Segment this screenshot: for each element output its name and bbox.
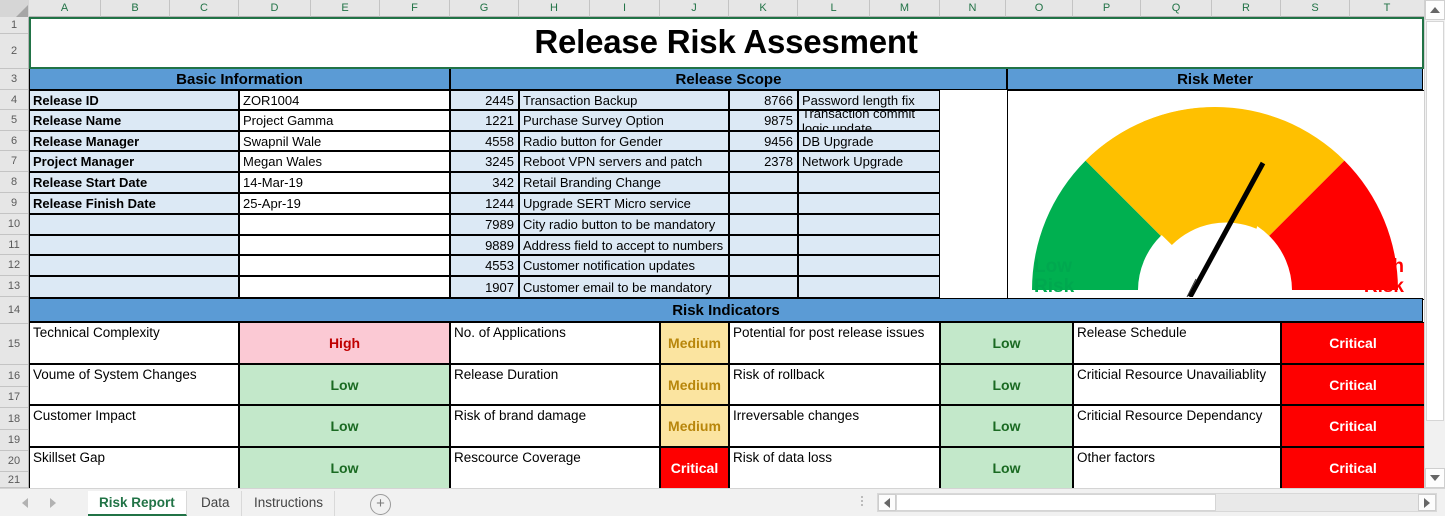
column-header-f[interactable]: F: [380, 0, 450, 17]
scope-left-desc-7[interactable]: Address field to accept to numbers: [519, 235, 729, 255]
caret-left-icon: [22, 498, 28, 508]
column-header-m[interactable]: M: [870, 0, 940, 17]
scope-left-id-3[interactable]: 3245: [450, 151, 519, 172]
section-header-risk-indicators: Risk Indicators: [29, 298, 1423, 322]
scope-right-id-6[interactable]: [729, 214, 798, 235]
scope-left-desc-1[interactable]: Purchase Survey Option: [519, 110, 729, 131]
risk-indicator-name[interactable]: No. of Applications: [450, 322, 660, 364]
scope-left-desc-2[interactable]: Radio button for Gender: [519, 131, 729, 151]
row-header-4[interactable]: 4: [0, 90, 28, 110]
scope-left-id-5[interactable]: 1244: [450, 193, 519, 214]
scope-right-desc-3[interactable]: Network Upgrade: [798, 151, 940, 172]
row-header-3[interactable]: 3: [0, 69, 28, 90]
scope-left-id-4[interactable]: 342: [450, 172, 519, 193]
tab-split-handle[interactable]: [861, 496, 864, 507]
risk-indicator-rating[interactable]: Medium: [660, 322, 729, 364]
bi-label-5[interactable]: Release Finish Date: [29, 193, 239, 214]
risk-indicator-rating[interactable]: Critical: [1281, 322, 1424, 364]
row-header-8[interactable]: 8: [0, 172, 28, 193]
column-header-t[interactable]: T: [1350, 0, 1425, 17]
sheet-tab-bar[interactable]: Risk Report Data Instructions +: [0, 488, 1445, 516]
section-header-risk-meter: Risk Meter: [1007, 68, 1423, 90]
scope-right-id-3[interactable]: 2378: [729, 151, 798, 172]
gauge-label-low-line1: Low: [1034, 257, 1074, 277]
row-header-16[interactable]: 16: [0, 365, 28, 387]
risk-indicator-rating[interactable]: Low: [239, 364, 450, 405]
bi-value-6[interactable]: [239, 214, 450, 235]
column-header-strip: ABCDEFGHIJKLMNOPQRST: [0, 0, 1445, 17]
section-header-release-scope: Release Scope: [450, 68, 1007, 90]
scope-right-id-8[interactable]: [729, 255, 798, 276]
risk-indicator-name[interactable]: Risk of rollback: [729, 364, 940, 405]
scope-right-id-5[interactable]: [729, 193, 798, 214]
risk-indicator-name[interactable]: Criticial Resource Unavailiablity: [1073, 364, 1281, 405]
excel-worksheet-window: ABCDEFGHIJKLMNOPQRST 1234567891011121314…: [0, 0, 1445, 516]
gauge-label-high-line2: Risk: [1362, 277, 1404, 297]
scope-left-id-0[interactable]: 2445: [450, 90, 519, 110]
column-header-b[interactable]: B: [101, 0, 170, 17]
horizontal-scrollbar[interactable]: [877, 493, 1437, 512]
row-header-9[interactable]: 9: [0, 193, 28, 214]
column-header-s[interactable]: S: [1281, 0, 1350, 17]
horizontal-scroll-thumb[interactable]: [896, 494, 1216, 511]
risk-indicator-rating[interactable]: Low: [239, 447, 450, 488]
bi-value-0[interactable]: ZOR1004: [239, 90, 450, 110]
scope-right-desc-7[interactable]: [798, 235, 940, 255]
caret-down-icon: [1430, 475, 1440, 481]
scope-right-desc-4[interactable]: [798, 172, 940, 193]
column-header-a[interactable]: A: [29, 0, 101, 17]
vertical-scroll-thumb[interactable]: [1426, 21, 1444, 421]
scope-right-desc-9[interactable]: [798, 276, 940, 298]
risk-indicator-rating[interactable]: Low: [940, 364, 1073, 405]
risk-indicator-name[interactable]: Voume of System Changes: [29, 364, 239, 405]
column-header-r[interactable]: R: [1212, 0, 1281, 17]
scope-right-id-7[interactable]: [729, 235, 798, 255]
row-header-strip: 12345678910111213141516171819202122: [0, 17, 29, 488]
scope-right-id-4[interactable]: [729, 172, 798, 193]
column-header-c[interactable]: C: [170, 0, 239, 17]
gauge-label-medium: Medium Risk: [1151, 134, 1274, 157]
prev-sheet-button[interactable]: [18, 496, 32, 510]
row-header-6[interactable]: 6: [0, 131, 28, 151]
column-header-n[interactable]: N: [940, 0, 1006, 17]
sheet-tab-risk-report[interactable]: Risk Report: [88, 491, 187, 516]
scroll-right-button[interactable]: [1418, 494, 1436, 511]
scope-right-desc-1[interactable]: Transaction commit logic update: [798, 110, 940, 131]
bi-label-4[interactable]: Release Start Date: [29, 172, 239, 193]
bi-value-8[interactable]: [239, 255, 450, 276]
row-header-21[interactable]: 21: [0, 472, 28, 488]
bi-label-3[interactable]: Project Manager: [29, 151, 239, 172]
gauge-label-high-line1: High: [1362, 257, 1404, 277]
scope-left-id-1[interactable]: 1221: [450, 110, 519, 131]
risk-indicator-name[interactable]: Other factors: [1073, 447, 1281, 488]
risk-indicator-name[interactable]: Criticial Resource Dependancy: [1073, 405, 1281, 447]
risk-indicator-rating[interactable]: Low: [940, 405, 1073, 447]
row-header-10[interactable]: 10: [0, 214, 28, 235]
row-header-1[interactable]: 1: [0, 17, 28, 34]
scope-left-id-8[interactable]: 4553: [450, 255, 519, 276]
gauge-label-low-line2: Risk: [1034, 277, 1074, 297]
bi-label-8[interactable]: [29, 255, 239, 276]
column-header-g[interactable]: G: [450, 0, 519, 17]
scope-left-desc-0[interactable]: Transaction Backup: [519, 90, 729, 110]
column-header-k[interactable]: K: [729, 0, 798, 17]
bi-value-2[interactable]: Swapnil Wale: [239, 131, 450, 151]
row-header-12[interactable]: 12: [0, 255, 28, 276]
row-header-7[interactable]: 7: [0, 151, 28, 172]
bi-value-5[interactable]: 25-Apr-19: [239, 193, 450, 214]
column-header-h[interactable]: H: [519, 0, 590, 17]
scope-right-desc-0[interactable]: Password length fix: [798, 90, 940, 110]
sheet-tab-data[interactable]: Data: [190, 491, 242, 516]
page-title: Release Risk Assesment: [29, 17, 1423, 68]
risk-indicator-rating[interactable]: Critical: [1281, 447, 1424, 488]
scope-left-desc-4[interactable]: Retail Branding Change: [519, 172, 729, 193]
vertical-scrollbar[interactable]: [1424, 0, 1445, 488]
row-header-14[interactable]: 14: [0, 297, 28, 324]
row-header-15[interactable]: 15: [0, 324, 28, 365]
bi-label-6[interactable]: [29, 214, 239, 235]
scope-left-desc-3[interactable]: Reboot VPN servers and patch: [519, 151, 729, 172]
scope-left-id-7[interactable]: 9889: [450, 235, 519, 255]
bi-value-7[interactable]: [239, 235, 450, 255]
row-header-20[interactable]: 20: [0, 451, 28, 472]
scope-left-id-2[interactable]: 4558: [450, 131, 519, 151]
gauge-label-low: Low Risk: [1034, 257, 1074, 297]
bi-value-9[interactable]: [239, 276, 450, 298]
scope-right-id-1[interactable]: 9875: [729, 110, 798, 131]
bi-value-4[interactable]: 14-Mar-19: [239, 172, 450, 193]
scope-right-desc-8[interactable]: [798, 255, 940, 276]
sheet-tab-instructions[interactable]: Instructions: [243, 491, 335, 516]
caret-right-icon: [50, 498, 56, 508]
scope-right-id-9[interactable]: [729, 276, 798, 298]
column-header-e[interactable]: E: [311, 0, 380, 17]
row-header-19[interactable]: 19: [0, 430, 28, 451]
caret-up-icon: [1430, 7, 1440, 13]
risk-indicator-name[interactable]: Potential for post release issues: [729, 322, 940, 364]
bi-label-9[interactable]: [29, 276, 239, 298]
risk-indicator-name[interactable]: Risk of brand damage: [450, 405, 660, 447]
section-header-basic-information: Basic Information: [29, 68, 450, 90]
bi-label-7[interactable]: [29, 235, 239, 255]
scroll-down-button[interactable]: [1425, 468, 1445, 488]
risk-indicator-name[interactable]: Skillset Gap: [29, 447, 239, 488]
bi-value-1[interactable]: Project Gamma: [239, 110, 450, 131]
risk-indicator-name[interactable]: Customer Impact: [29, 405, 239, 447]
add-sheet-button[interactable]: +: [370, 494, 391, 515]
scope-right-id-2[interactable]: 9456: [729, 131, 798, 151]
risk-indicator-name[interactable]: Irreversable changes: [729, 405, 940, 447]
scope-right-desc-2[interactable]: DB Upgrade: [798, 131, 940, 151]
row-header-5[interactable]: 5: [0, 110, 28, 131]
risk-indicator-name[interactable]: Rescource Coverage: [450, 447, 660, 488]
scroll-left-button[interactable]: [878, 494, 896, 511]
scope-left-desc-9[interactable]: Customer email to be mandatory: [519, 276, 729, 298]
bi-label-0[interactable]: Release ID: [29, 90, 239, 110]
risk-indicator-rating[interactable]: Medium: [660, 364, 729, 405]
risk-indicator-rating[interactable]: Critical: [660, 447, 729, 488]
scope-left-id-9[interactable]: 1907: [450, 276, 519, 298]
scroll-up-button[interactable]: [1425, 0, 1445, 20]
risk-indicator-name[interactable]: Release Schedule: [1073, 322, 1281, 364]
scope-right-desc-5[interactable]: [798, 193, 940, 214]
risk-indicator-rating[interactable]: Low: [239, 405, 450, 447]
risk-indicator-name[interactable]: Risk of data loss: [729, 447, 940, 488]
next-sheet-button[interactable]: [46, 496, 60, 510]
scope-left-desc-5[interactable]: Upgrade SERT Micro service: [519, 193, 729, 214]
row-header-13[interactable]: 13: [0, 276, 28, 297]
risk-indicator-rating[interactable]: Low: [940, 447, 1073, 488]
column-header-p[interactable]: P: [1073, 0, 1141, 17]
caret-left-icon: [884, 498, 890, 508]
column-header-q[interactable]: Q: [1141, 0, 1212, 17]
bi-label-1[interactable]: Release Name: [29, 110, 239, 131]
risk-indicator-rating[interactable]: Critical: [1281, 405, 1424, 447]
scope-right-id-0[interactable]: 8766: [729, 90, 798, 110]
row-header-17[interactable]: 17: [0, 387, 28, 408]
row-header-2[interactable]: 2: [0, 34, 28, 69]
gauge-label-high: High Risk: [1362, 257, 1404, 297]
risk-indicator-rating[interactable]: Medium: [660, 405, 729, 447]
risk-indicator-rating[interactable]: Critical: [1281, 364, 1424, 405]
risk-indicator-name[interactable]: Technical Complexity: [29, 322, 239, 364]
risk-indicator-name[interactable]: Release Duration: [450, 364, 660, 405]
risk-indicator-rating[interactable]: High: [239, 322, 450, 364]
bi-label-2[interactable]: Release Manager: [29, 131, 239, 151]
cell-grid[interactable]: Release Risk Assesment Basic Information…: [29, 17, 1424, 488]
scope-left-desc-6[interactable]: City radio button to be mandatory: [519, 214, 729, 235]
select-all-corner[interactable]: [0, 0, 30, 18]
risk-meter-panel: Medium Risk Low Risk High Risk: [1007, 90, 1424, 300]
column-header-j[interactable]: J: [660, 0, 729, 17]
risk-indicator-rating[interactable]: Low: [940, 322, 1073, 364]
scope-left-id-6[interactable]: 7989: [450, 214, 519, 235]
bi-value-3[interactable]: Megan Wales: [239, 151, 450, 172]
scope-left-desc-8[interactable]: Customer notification updates: [519, 255, 729, 276]
row-header-11[interactable]: 11: [0, 235, 28, 255]
column-header-o[interactable]: O: [1006, 0, 1073, 17]
column-header-d[interactable]: D: [239, 0, 311, 17]
column-header-i[interactable]: I: [590, 0, 660, 17]
row-header-18[interactable]: 18: [0, 408, 28, 430]
column-header-l[interactable]: L: [798, 0, 870, 17]
scope-right-desc-6[interactable]: [798, 214, 940, 235]
caret-right-icon: [1424, 498, 1430, 508]
